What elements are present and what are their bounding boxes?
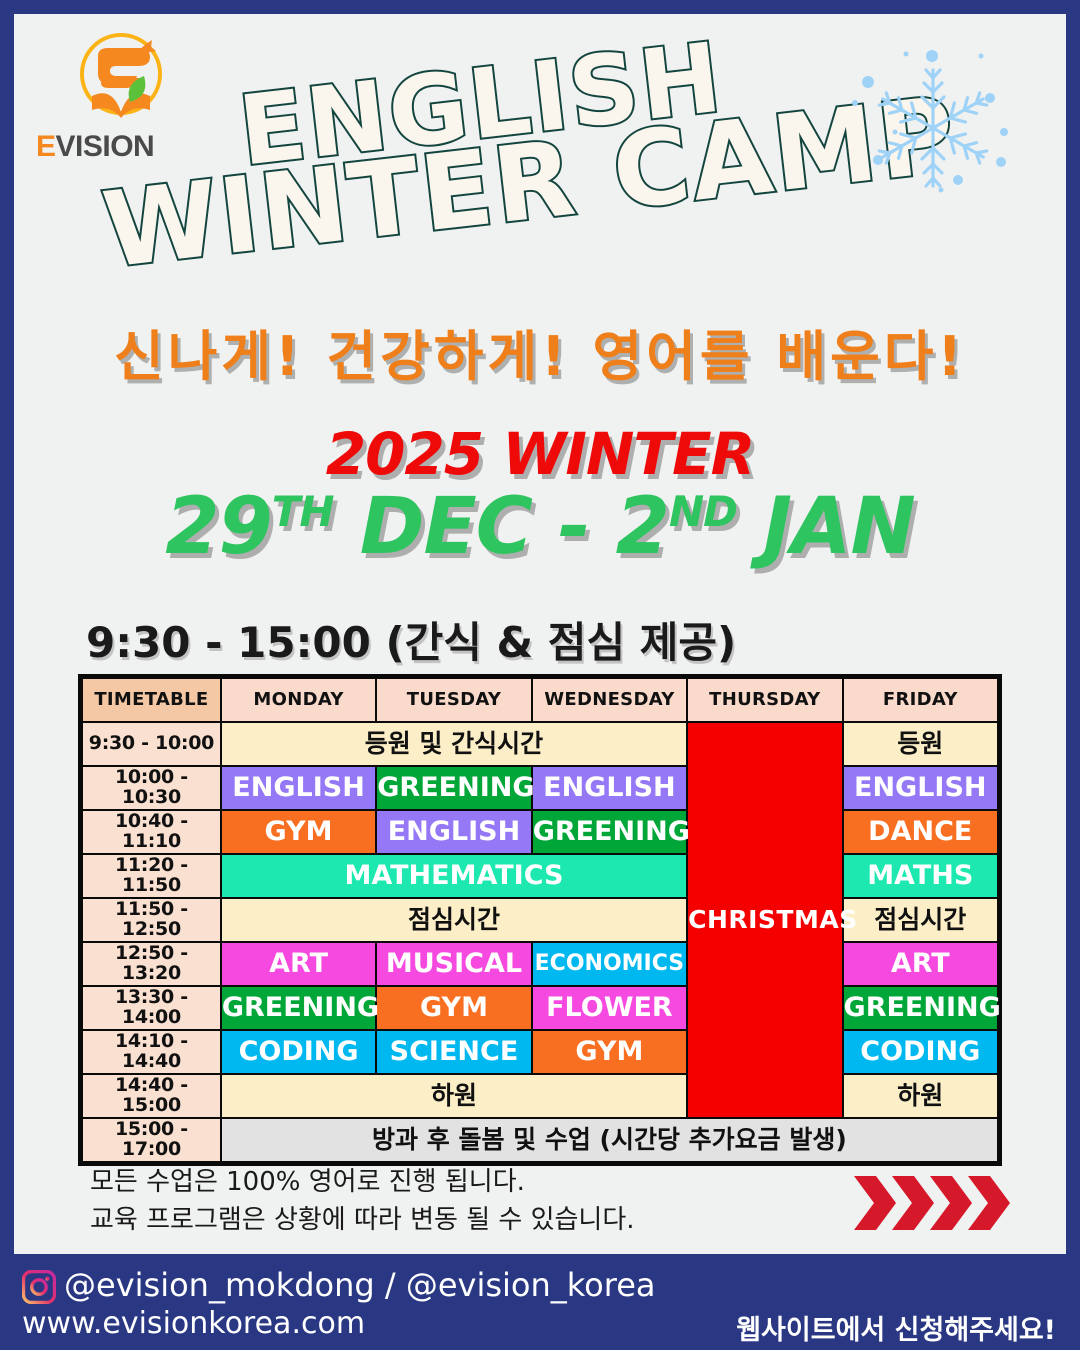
poster-title: ENGLISH WINTER CAMP [214, 42, 914, 257]
evision-leaf-book-logo-icon [68, 26, 174, 132]
brand-wordmark-accent: E [36, 130, 56, 163]
timetable-subject-cell: GREENING [533, 811, 686, 853]
timetable-row: 11:20 - 11:50MATHEMATICSMATHS [83, 855, 997, 897]
timetable-subject-cell: GYM [377, 987, 530, 1029]
timetable-header-wednesday: WEDNESDAY [533, 679, 686, 721]
footnotes: 모든 수업은 100% 영어로 진행 됩니다. 교육 프로그램은 상황에 따라 … [90, 1164, 790, 1239]
poster-canvas: EVISION ENGLISH WINTER CAMP [14, 14, 1066, 1254]
timetable-time-cell: 14:10 - 14:40 [83, 1031, 220, 1073]
timetable-friday-cell: 하원 [844, 1075, 997, 1117]
timetable-time-cell: 10:00 - 10:30 [83, 767, 220, 809]
timetable-subject-cell: ENGLISH [222, 767, 375, 809]
date-range-mid-sup: ND [669, 487, 737, 536]
timetable-subject-cell: SCIENCE [377, 1031, 530, 1073]
timetable-row: 13:30 - 14:00GREENINGGYMFLOWERGREENING [83, 987, 997, 1029]
brand-logo: EVISION [32, 26, 202, 176]
timetable-row: 14:40 - 15:00하원하원 [83, 1075, 997, 1117]
timetable-time-cell: 15:00 - 17:00 [83, 1119, 220, 1161]
timetable-header-timetable: TIMETABLE [83, 679, 220, 721]
timetable-christmas-cell: CHRISTMAS [688, 723, 841, 1117]
timetable-time-cell: 11:20 - 11:50 [83, 855, 220, 897]
timetable-fullspan-cell: 방과 후 돌봄 및 수업 (시간당 추가요금 발생) [222, 1119, 997, 1161]
timetable-header-row: TIMETABLE MONDAY TUESDAY WEDNESDAY THURS… [83, 679, 997, 721]
timetable-friday-cell: DANCE [844, 811, 997, 853]
instagram-handles[interactable]: @evision_mokdong / @evision_korea [64, 1266, 655, 1304]
timetable-friday-cell: GREENING [844, 987, 997, 1029]
timetable-subject-cell: GREENING [222, 987, 375, 1029]
date-year-label: 2025 WINTER [14, 420, 1066, 488]
timetable-header-friday: FRIDAY [844, 679, 997, 721]
timetable-friday-cell: 등원 [844, 723, 997, 765]
timetable-subject-cell: MUSICAL [377, 943, 530, 985]
timetable-row: 12:50 - 13:20ARTMUSICALECONOMICSART [83, 943, 997, 985]
camp-hours-label: 9:30 - 15:00 (간식 & 점심 제공) [86, 609, 736, 670]
snowflake-icon [838, 40, 1018, 220]
date-range-label: 29TH DEC - 2ND JAN [14, 482, 1066, 572]
timetable-time-cell: 13:30 - 14:00 [83, 987, 220, 1029]
timetable-time-cell: 9:30 - 10:00 [83, 723, 220, 765]
timetable-friday-cell: CODING [844, 1031, 997, 1073]
timetable-friday-cell: 점심시간 [844, 899, 997, 941]
footnote-line-1: 모든 수업은 100% 영어로 진행 됩니다. [90, 1164, 790, 1202]
timetable-time-cell: 12:50 - 13:20 [83, 943, 220, 985]
timetable-time-cell: 10:40 - 11:10 [83, 811, 220, 853]
timetable-friday-cell: ENGLISH [844, 767, 997, 809]
timetable-header-monday: MONDAY [222, 679, 375, 721]
timetable-body: 9:30 - 10:00등원 및 간식시간CHRISTMAS등원10:00 - … [83, 723, 997, 1161]
brand-wordmark-text: VISION [56, 130, 155, 163]
timetable-friday-cell: ART [844, 943, 997, 985]
timetable-subject-cell: CODING [222, 1031, 375, 1073]
korean-slogan: 신나게! 건강하게! 영어를 배운다! [14, 312, 1066, 391]
timetable-subject-cell: ECONOMICS [533, 943, 686, 985]
cta-label: 웹사이트에서 신청해주세요! [736, 1308, 1056, 1347]
timetable-row: 10:00 - 10:30ENGLISHGREENINGENGLISHENGLI… [83, 767, 997, 809]
timetable-row: 9:30 - 10:00등원 및 간식시간CHRISTMAS등원 [83, 723, 997, 765]
timetable-span-cell: 하원 [222, 1075, 686, 1117]
timetable-subject-cell: FLOWER [533, 987, 686, 1029]
timetable-header-thursday: THURSDAY [688, 679, 841, 721]
timetable-time-cell: 14:40 - 15:00 [83, 1075, 220, 1117]
timetable-subject-cell: GREENING [377, 767, 530, 809]
timetable-friday-cell: MATHS [844, 855, 997, 897]
timetable-subject-cell: ENGLISH [533, 767, 686, 809]
footer-bar: @evision_mokdong / @evision_korea www.ev… [0, 1254, 1080, 1350]
timetable: TIMETABLE MONDAY TUESDAY WEDNESDAY THURS… [78, 674, 1002, 1166]
timetable-subject-cell: ENGLISH [377, 811, 530, 853]
footnote-line-2: 교육 프로그램은 상황에 따라 변동 될 수 있습니다. [90, 1202, 790, 1240]
timetable-subject-cell: ART [222, 943, 375, 985]
timetable-row: 15:00 - 17:00방과 후 돌봄 및 수업 (시간당 추가요금 발생) [83, 1119, 997, 1161]
timetable-subject-cell: GYM [222, 811, 375, 853]
brand-wordmark: EVISION [36, 130, 206, 164]
timetable-time-cell: 11:50 - 12:50 [83, 899, 220, 941]
timetable-span-cell: MATHEMATICS [222, 855, 686, 897]
chevrons-right-icon [852, 1172, 1022, 1234]
timetable-row: 11:50 - 12:50점심시간점심시간 [83, 899, 997, 941]
instagram-icon[interactable] [22, 1270, 56, 1304]
timetable-row: 10:40 - 11:10GYMENGLISHGREENINGDANCE [83, 811, 997, 853]
date-range-suffix: JAN [737, 482, 915, 572]
poster-root: EVISION ENGLISH WINTER CAMP [0, 0, 1080, 1350]
date-range-mid: DEC - 2 [334, 482, 669, 572]
website-url[interactable]: www.evisionkorea.com [22, 1306, 365, 1341]
timetable-row: 14:10 - 14:40CODINGSCIENCEGYMCODING [83, 1031, 997, 1073]
date-range-prefix-sup: TH [272, 487, 334, 536]
timetable-span-cell: 점심시간 [222, 899, 686, 941]
timetable-header-tuesday: TUESDAY [377, 679, 530, 721]
timetable-span-cell: 등원 및 간식시간 [222, 723, 686, 765]
date-range-prefix: 29 [165, 482, 272, 572]
timetable-container: TIMETABLE MONDAY TUESDAY WEDNESDAY THURS… [78, 674, 1002, 1166]
timetable-subject-cell: GYM [533, 1031, 686, 1073]
